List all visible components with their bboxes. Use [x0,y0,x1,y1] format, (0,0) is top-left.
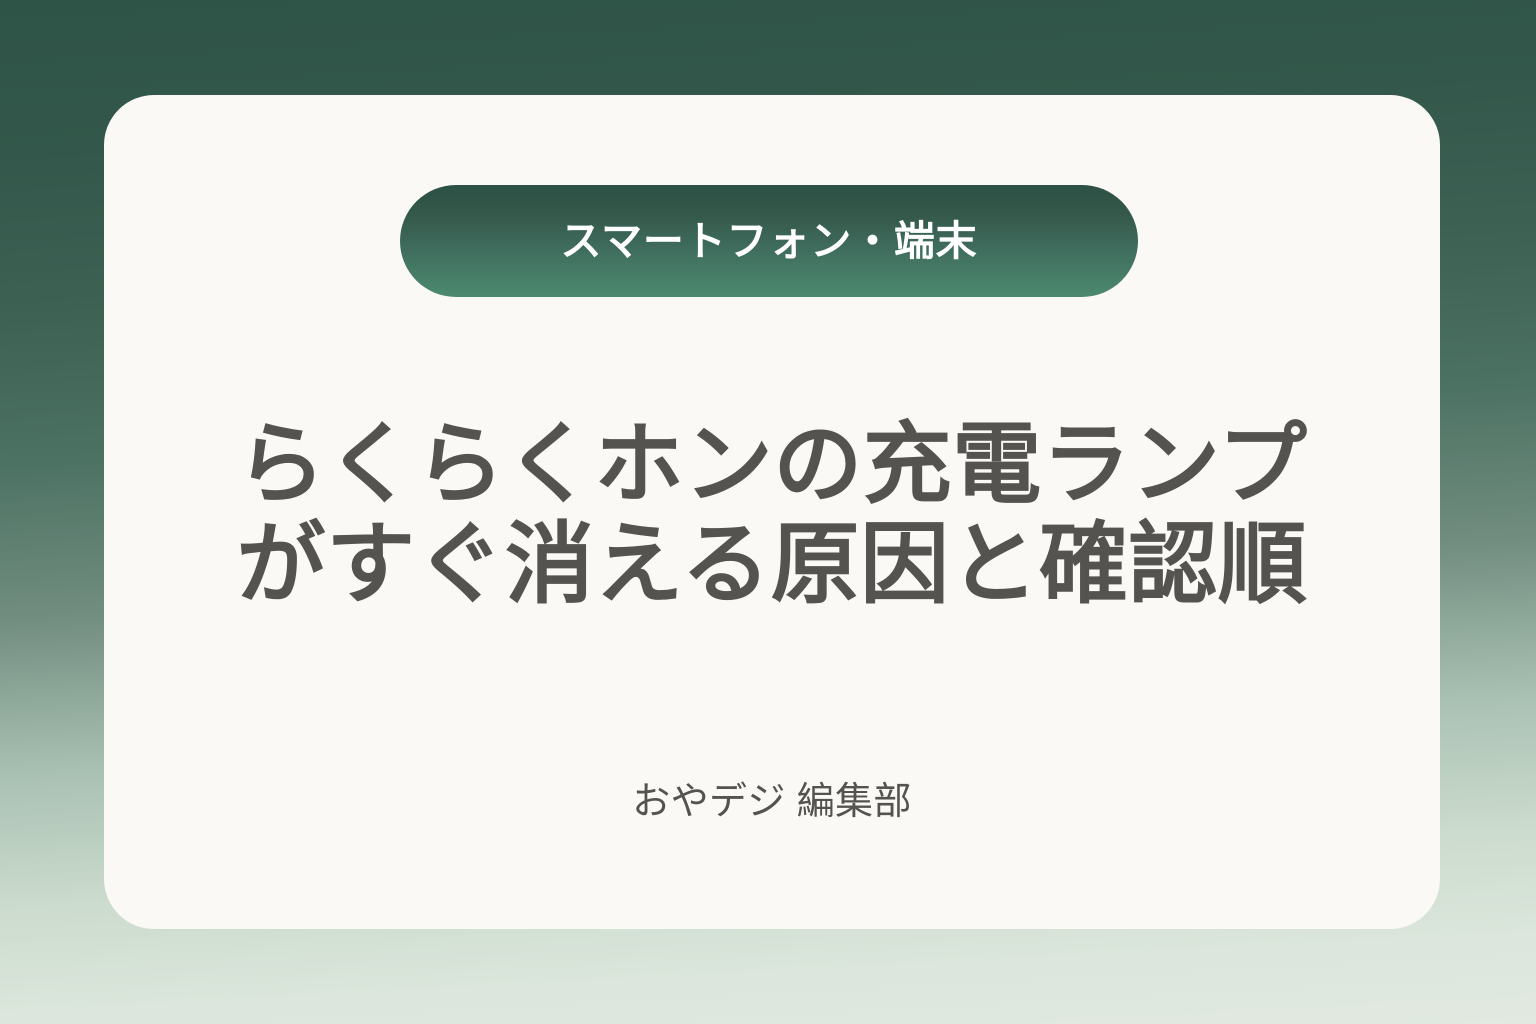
content-card: スマートフォン・端末 らくらくホンの充電ランプ がすぐ消える原因と確認順 おやデ… [104,95,1440,929]
page-title-line-2: がすぐ消える原因と確認順 [104,515,1440,615]
ogp-canvas: スマートフォン・端末 らくらくホンの充電ランプ がすぐ消える原因と確認順 おやデ… [0,0,1536,1024]
page-title: らくらくホンの充電ランプ がすぐ消える原因と確認順 [104,415,1440,614]
page-title-line-1: らくらくホンの充電ランプ [104,415,1440,515]
byline-author: おやデジ 編集部 [104,780,1440,826]
category-badge[interactable]: スマートフォン・端末 [400,185,1138,297]
category-badge-label: スマートフォン・端末 [561,221,978,262]
